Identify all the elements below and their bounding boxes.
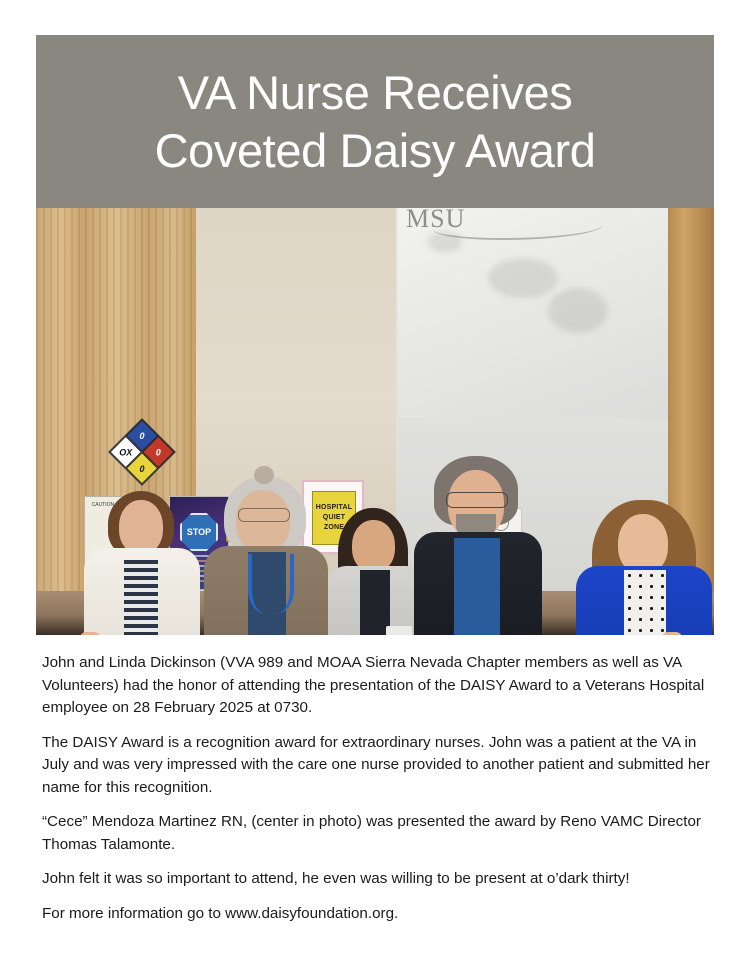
- article-paragraph-1: John and Linda Dickinson (VVA 989 and MO…: [42, 652, 710, 720]
- lanyard: [248, 554, 294, 614]
- page-title-band: VA Nurse Receives Coveted Daisy Award: [36, 35, 714, 208]
- whiteboard-smudge: [488, 258, 558, 298]
- face: [352, 520, 395, 572]
- page-title-line-2: Coveted Daisy Award: [155, 122, 596, 179]
- whiteboard-smudge: [548, 288, 608, 333]
- hand: [662, 632, 682, 635]
- award-presentation-photo: MSU 0 0 OX 0 CAUTION Oxidizer store NO S…: [36, 208, 714, 635]
- nfpa-reactivity-value: 0: [132, 458, 153, 479]
- article-paragraph-3: “Cece” Mendoza Martinez RN, (center in p…: [42, 811, 710, 856]
- article-body: John and Linda Dickinson (VVA 989 and MO…: [42, 652, 710, 937]
- striped-shirt: [124, 560, 158, 635]
- article-paragraph-5: For more information go to www.daisyfoun…: [42, 903, 710, 926]
- blue-shirt: [454, 538, 500, 635]
- hair-bun: [254, 466, 274, 484]
- stop-sign-icon: STOP: [180, 513, 218, 551]
- face: [618, 514, 668, 574]
- hand: [80, 632, 100, 635]
- article-paragraph-4: John felt it was so important to attend,…: [42, 868, 710, 891]
- face: [119, 500, 163, 554]
- polka-dot-blouse: [624, 570, 666, 635]
- quiet-sign-line-2: QUIET: [323, 513, 345, 523]
- vest-brand-tag: [386, 626, 412, 635]
- whiteboard-smudge: [428, 232, 462, 252]
- whiteboard: MSU: [398, 208, 670, 418]
- article-paragraph-2: The DAISY Award is a recognition award f…: [42, 732, 710, 800]
- stop-sign-text: STOP: [187, 527, 211, 537]
- page-title-line-1: VA Nurse Receives: [178, 64, 573, 121]
- eyeglasses-icon: [446, 492, 508, 508]
- quiet-sign-line-1: HOSPITAL: [316, 503, 352, 513]
- black-top: [360, 570, 390, 635]
- eyeglasses-icon: [238, 508, 290, 522]
